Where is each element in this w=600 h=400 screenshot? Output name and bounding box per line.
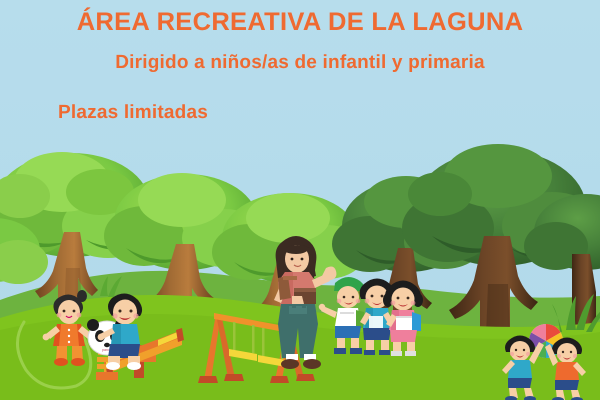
page-title: ÁREA RECREATIVA DE LA LAGUNA (0, 8, 600, 37)
limited-places-note: Plazas limitadas (58, 102, 208, 124)
poster-subtitle: Dirigido a niños/as de infantil y primar… (0, 52, 600, 74)
poster-canvas: panda (0, 0, 600, 400)
